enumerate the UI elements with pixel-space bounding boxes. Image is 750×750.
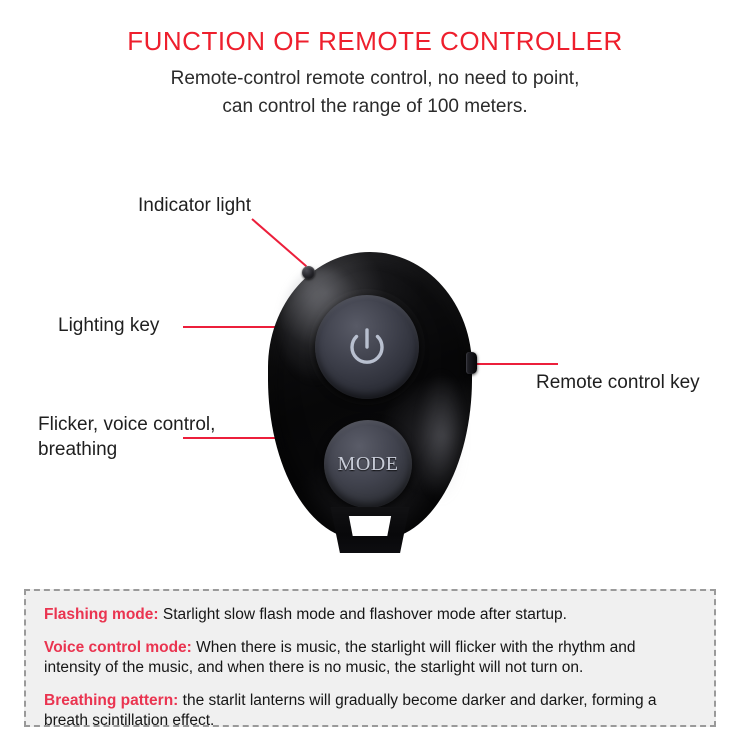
- remote-controller-device: MODE: [268, 252, 472, 544]
- description-item: Flashing mode: Starlight slow flash mode…: [26, 591, 714, 625]
- mode-button-label: MODE: [338, 453, 399, 476]
- mode-button[interactable]: MODE: [324, 420, 412, 508]
- side-button-icon[interactable]: [466, 352, 477, 374]
- subtitle-line-2: can control the range of 100 meters.: [0, 93, 750, 121]
- power-icon: [341, 321, 393, 373]
- callout-indicator-light: Indicator light: [138, 193, 251, 218]
- power-button[interactable]: [315, 295, 419, 399]
- keyring-hole: [346, 516, 394, 536]
- led-indicator-icon: [302, 266, 315, 279]
- page-title: FUNCTION OF REMOTE CONTROLLER: [0, 26, 750, 57]
- product-infographic: FUNCTION OF REMOTE CONTROLLER Remote-con…: [0, 0, 750, 750]
- keyring-loop-icon: [323, 507, 417, 553]
- callout-lighting-key: Lighting key: [58, 313, 159, 338]
- mode-description-box: Flashing mode: Starlight slow flash mode…: [24, 589, 716, 727]
- description-item: Breathing pattern: the starlit lanterns …: [26, 678, 714, 731]
- description-label: Breathing pattern:: [44, 692, 178, 709]
- description-item: Voice control mode: When there is music,…: [26, 625, 714, 678]
- leader-line-remote-control-key: [470, 363, 558, 365]
- callout-remote-control-key: Remote control key: [536, 370, 700, 395]
- description-label: Flashing mode:: [44, 606, 159, 623]
- page-subtitle: Remote-control remote control, no need t…: [0, 65, 750, 121]
- description-label: Voice control mode:: [44, 639, 192, 656]
- description-text: Starlight slow flash mode and flashover …: [159, 606, 567, 623]
- subtitle-line-1: Remote-control remote control, no need t…: [171, 68, 580, 89]
